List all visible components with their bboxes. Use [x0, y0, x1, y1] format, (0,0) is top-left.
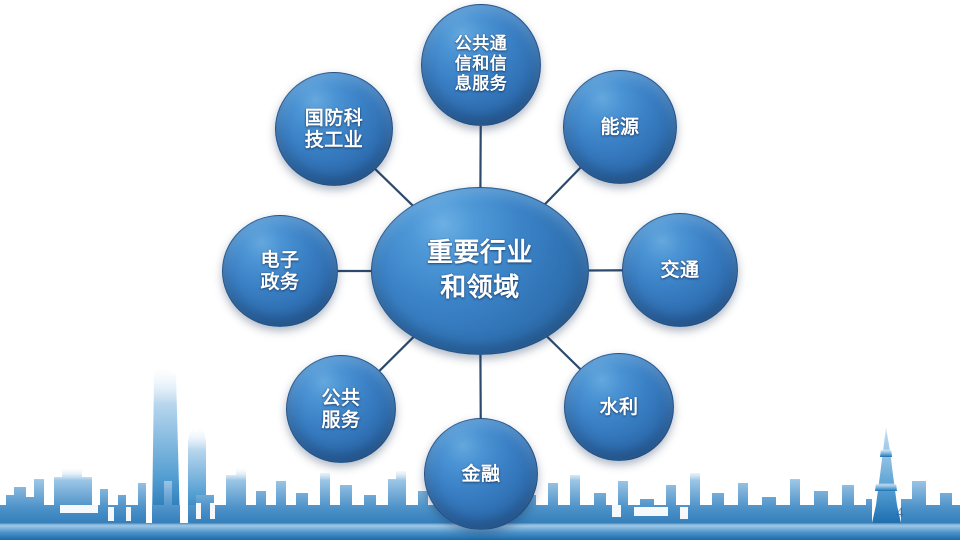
node-water-conservancy[interactable]: 水利	[564, 353, 674, 461]
node-public-services[interactable]: 公共 服务	[286, 355, 396, 463]
node-energy[interactable]: 能源	[563, 70, 677, 184]
node-comm-label: 公共通 信和信 息服务	[449, 35, 514, 95]
node-center-label: 重要行业 和领域	[421, 236, 539, 306]
node-water-label: 水利	[593, 396, 644, 418]
node-public-services-label: 公共 服务	[315, 387, 366, 431]
node-energy-label: 能源	[594, 116, 645, 138]
page-number: 4	[896, 505, 904, 522]
node-defense-label: 国防科 技工业	[299, 107, 370, 151]
node-transportation-label: 交通	[654, 259, 705, 281]
node-defense-science-technology-industry[interactable]: 国防科 技工业	[275, 72, 393, 186]
node-finance-label: 金融	[455, 463, 506, 485]
node-transportation[interactable]: 交通	[622, 213, 738, 327]
node-finance[interactable]: 金融	[424, 418, 538, 530]
node-e-government[interactable]: 电子 政务	[222, 215, 338, 327]
node-center-important-industries[interactable]: 重要行业 和领域	[371, 187, 589, 355]
slide-canvas: 重要行业 和领域 公共通 信和信 息服务 能源 交通 水利 金融 公共 服务 电…	[0, 0, 960, 540]
node-public-communication-information-services[interactable]: 公共通 信和信 息服务	[421, 4, 541, 126]
node-e-government-label: 电子 政务	[254, 249, 305, 293]
